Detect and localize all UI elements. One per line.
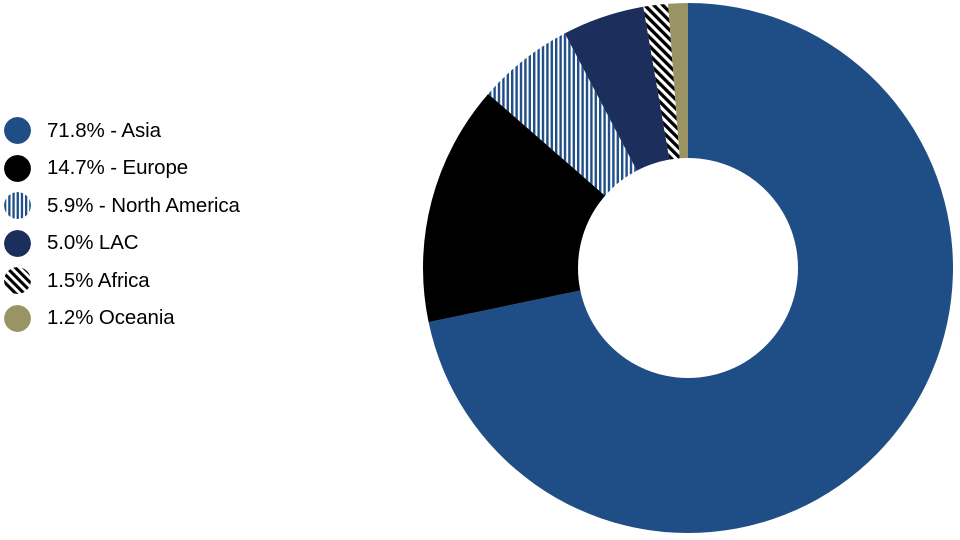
legend-item-africa[interactable]: 1.5% Africa [0,262,400,300]
legend-swatch-north-america [4,192,31,219]
legend-label-north-america: 5.9% - North America [47,196,240,217]
legend-item-lac[interactable]: 5.0% LAC [0,225,400,263]
donut-chart-figure: 71.8% - Asia 14.7% - Europe [0,0,960,540]
legend-label-lac: 5.0% LAC [47,233,139,254]
legend-label-europe: 14.7% - Europe [47,158,188,179]
legend-swatch-oceania [4,305,31,332]
donut-hole [578,158,798,378]
legend-item-north-america[interactable]: 5.9% - North America [0,187,400,225]
legend-item-europe[interactable]: 14.7% - Europe [0,150,400,188]
donut-plot-area [423,3,953,533]
chart-legend: 71.8% - Asia 14.7% - Europe [0,112,400,337]
legend-item-asia[interactable]: 71.8% - Asia [0,112,400,150]
legend-label-asia: 71.8% - Asia [47,121,161,142]
legend-label-oceania: 1.2% Oceania [47,308,175,329]
legend-swatch-africa [4,267,31,294]
legend-swatch-asia [4,117,31,144]
legend-swatch-lac [4,230,31,257]
legend-swatch-europe [4,155,31,182]
donut-svg [423,3,953,533]
legend-item-oceania[interactable]: 1.2% Oceania [0,300,400,338]
legend-label-africa: 1.5% Africa [47,271,150,292]
